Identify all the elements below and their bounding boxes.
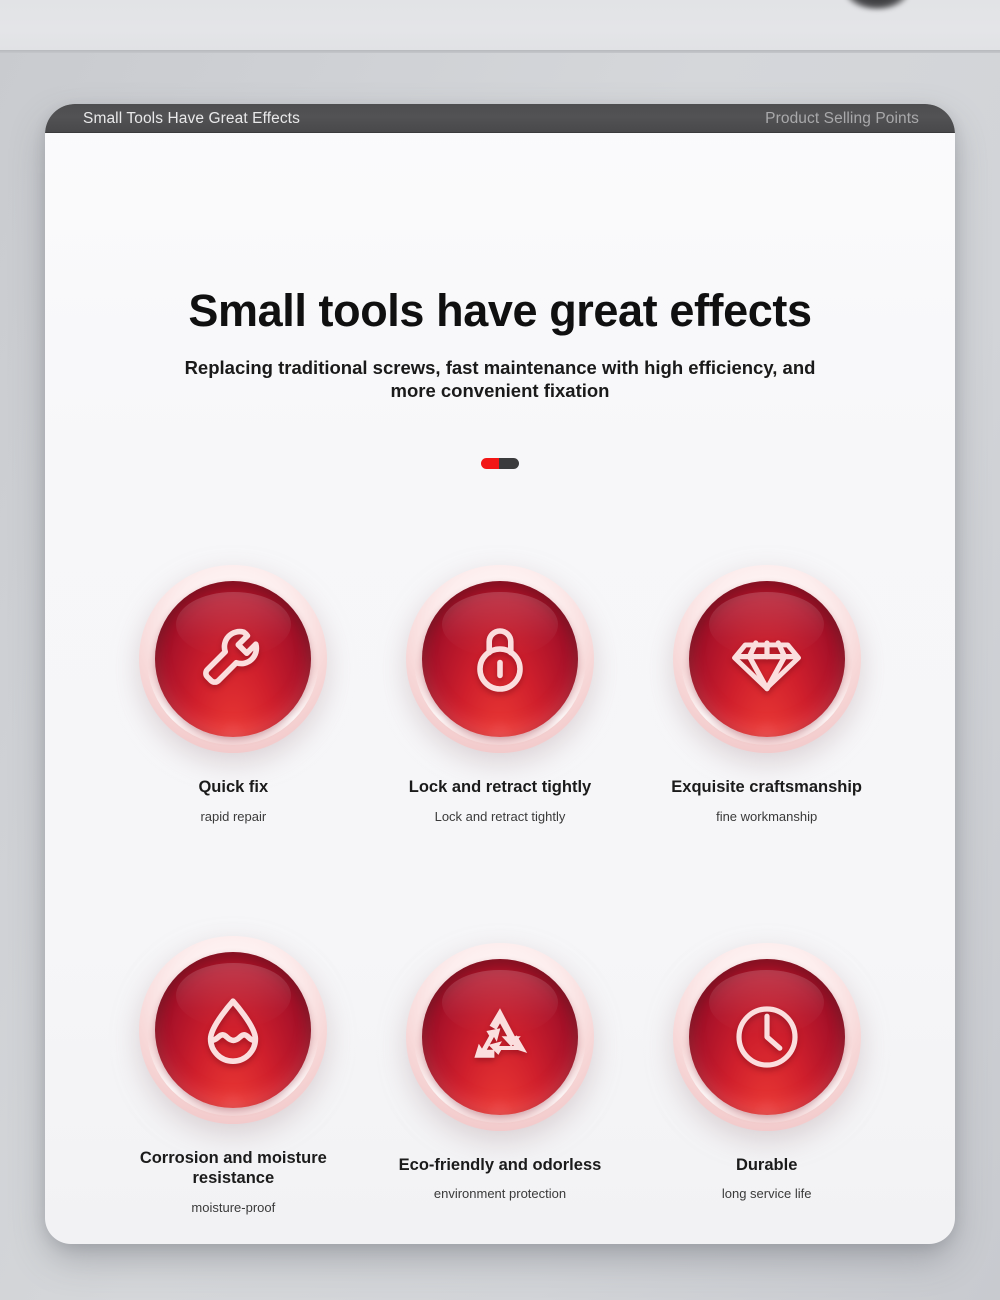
feature-badge	[673, 565, 861, 753]
badge-inner-disc	[155, 581, 311, 737]
header-title: Small Tools Have Great Effects	[83, 110, 300, 128]
feature-title: Quick fix	[198, 777, 268, 798]
divider-left-segment	[481, 458, 499, 469]
wrench-icon	[193, 619, 273, 699]
feature-subtitle: environment protection	[434, 1186, 566, 1201]
feature-card-craftsmanship: Exquisite craftsmanship fine workmanship	[633, 565, 900, 824]
clock-icon	[727, 997, 807, 1077]
badge-inner-disc	[689, 581, 845, 737]
feature-title: Eco-friendly and odorless	[399, 1155, 602, 1176]
divider-pill	[481, 458, 519, 469]
feature-badge	[139, 565, 327, 753]
feature-grid: Quick fix rapid repair	[100, 565, 900, 1215]
feature-subtitle: long service life	[722, 1186, 812, 1201]
feature-title: Durable	[736, 1155, 797, 1176]
feature-card-lock: Lock and retract tightly Lock and retrac…	[367, 565, 634, 824]
partial-object-blur	[845, 0, 909, 10]
badge-inner-disc	[422, 581, 578, 737]
diamond-icon	[727, 619, 807, 699]
padlock-icon	[460, 619, 540, 699]
feature-subtitle: moisture-proof	[191, 1200, 275, 1215]
feature-subtitle: Lock and retract tightly	[435, 809, 566, 824]
feature-badge	[406, 565, 594, 753]
header-section-label: Product Selling Points	[765, 110, 919, 128]
previous-slide-strip	[0, 0, 1000, 50]
feature-title: Lock and retract tightly	[409, 777, 591, 798]
feature-card-durable: Durable long service life	[633, 943, 900, 1222]
badge-inner-disc	[689, 959, 845, 1115]
badge-inner-disc	[422, 959, 578, 1115]
water-drop-icon	[193, 990, 273, 1070]
divider-right-segment	[499, 458, 519, 469]
feature-subtitle: rapid repair	[200, 809, 266, 824]
feature-title: Corrosion and moisture resistance	[126, 1148, 341, 1189]
badge-inner-disc	[155, 952, 311, 1108]
feature-badge	[673, 943, 861, 1131]
slide-card: Small Tools Have Great Effects Product S…	[45, 104, 955, 1244]
feature-badge	[139, 936, 327, 1124]
feature-title: Exquisite craftsmanship	[671, 777, 862, 798]
page-subtitle: Replacing traditional screws, fast maint…	[165, 357, 835, 402]
feature-card-quick-fix: Quick fix rapid repair	[100, 565, 367, 824]
feature-badge	[406, 943, 594, 1131]
card-body: Small tools have great effects Replacing…	[45, 133, 955, 1244]
page-title: Small tools have great effects	[45, 285, 955, 337]
feature-card-eco: Eco-friendly and odorless environment pr…	[367, 943, 634, 1222]
feature-card-corrosion: Corrosion and moisture resistance moistu…	[100, 936, 367, 1215]
card-header-bar: Small Tools Have Great Effects Product S…	[45, 104, 955, 133]
recycle-icon	[460, 997, 540, 1077]
feature-subtitle: fine workmanship	[716, 809, 817, 824]
